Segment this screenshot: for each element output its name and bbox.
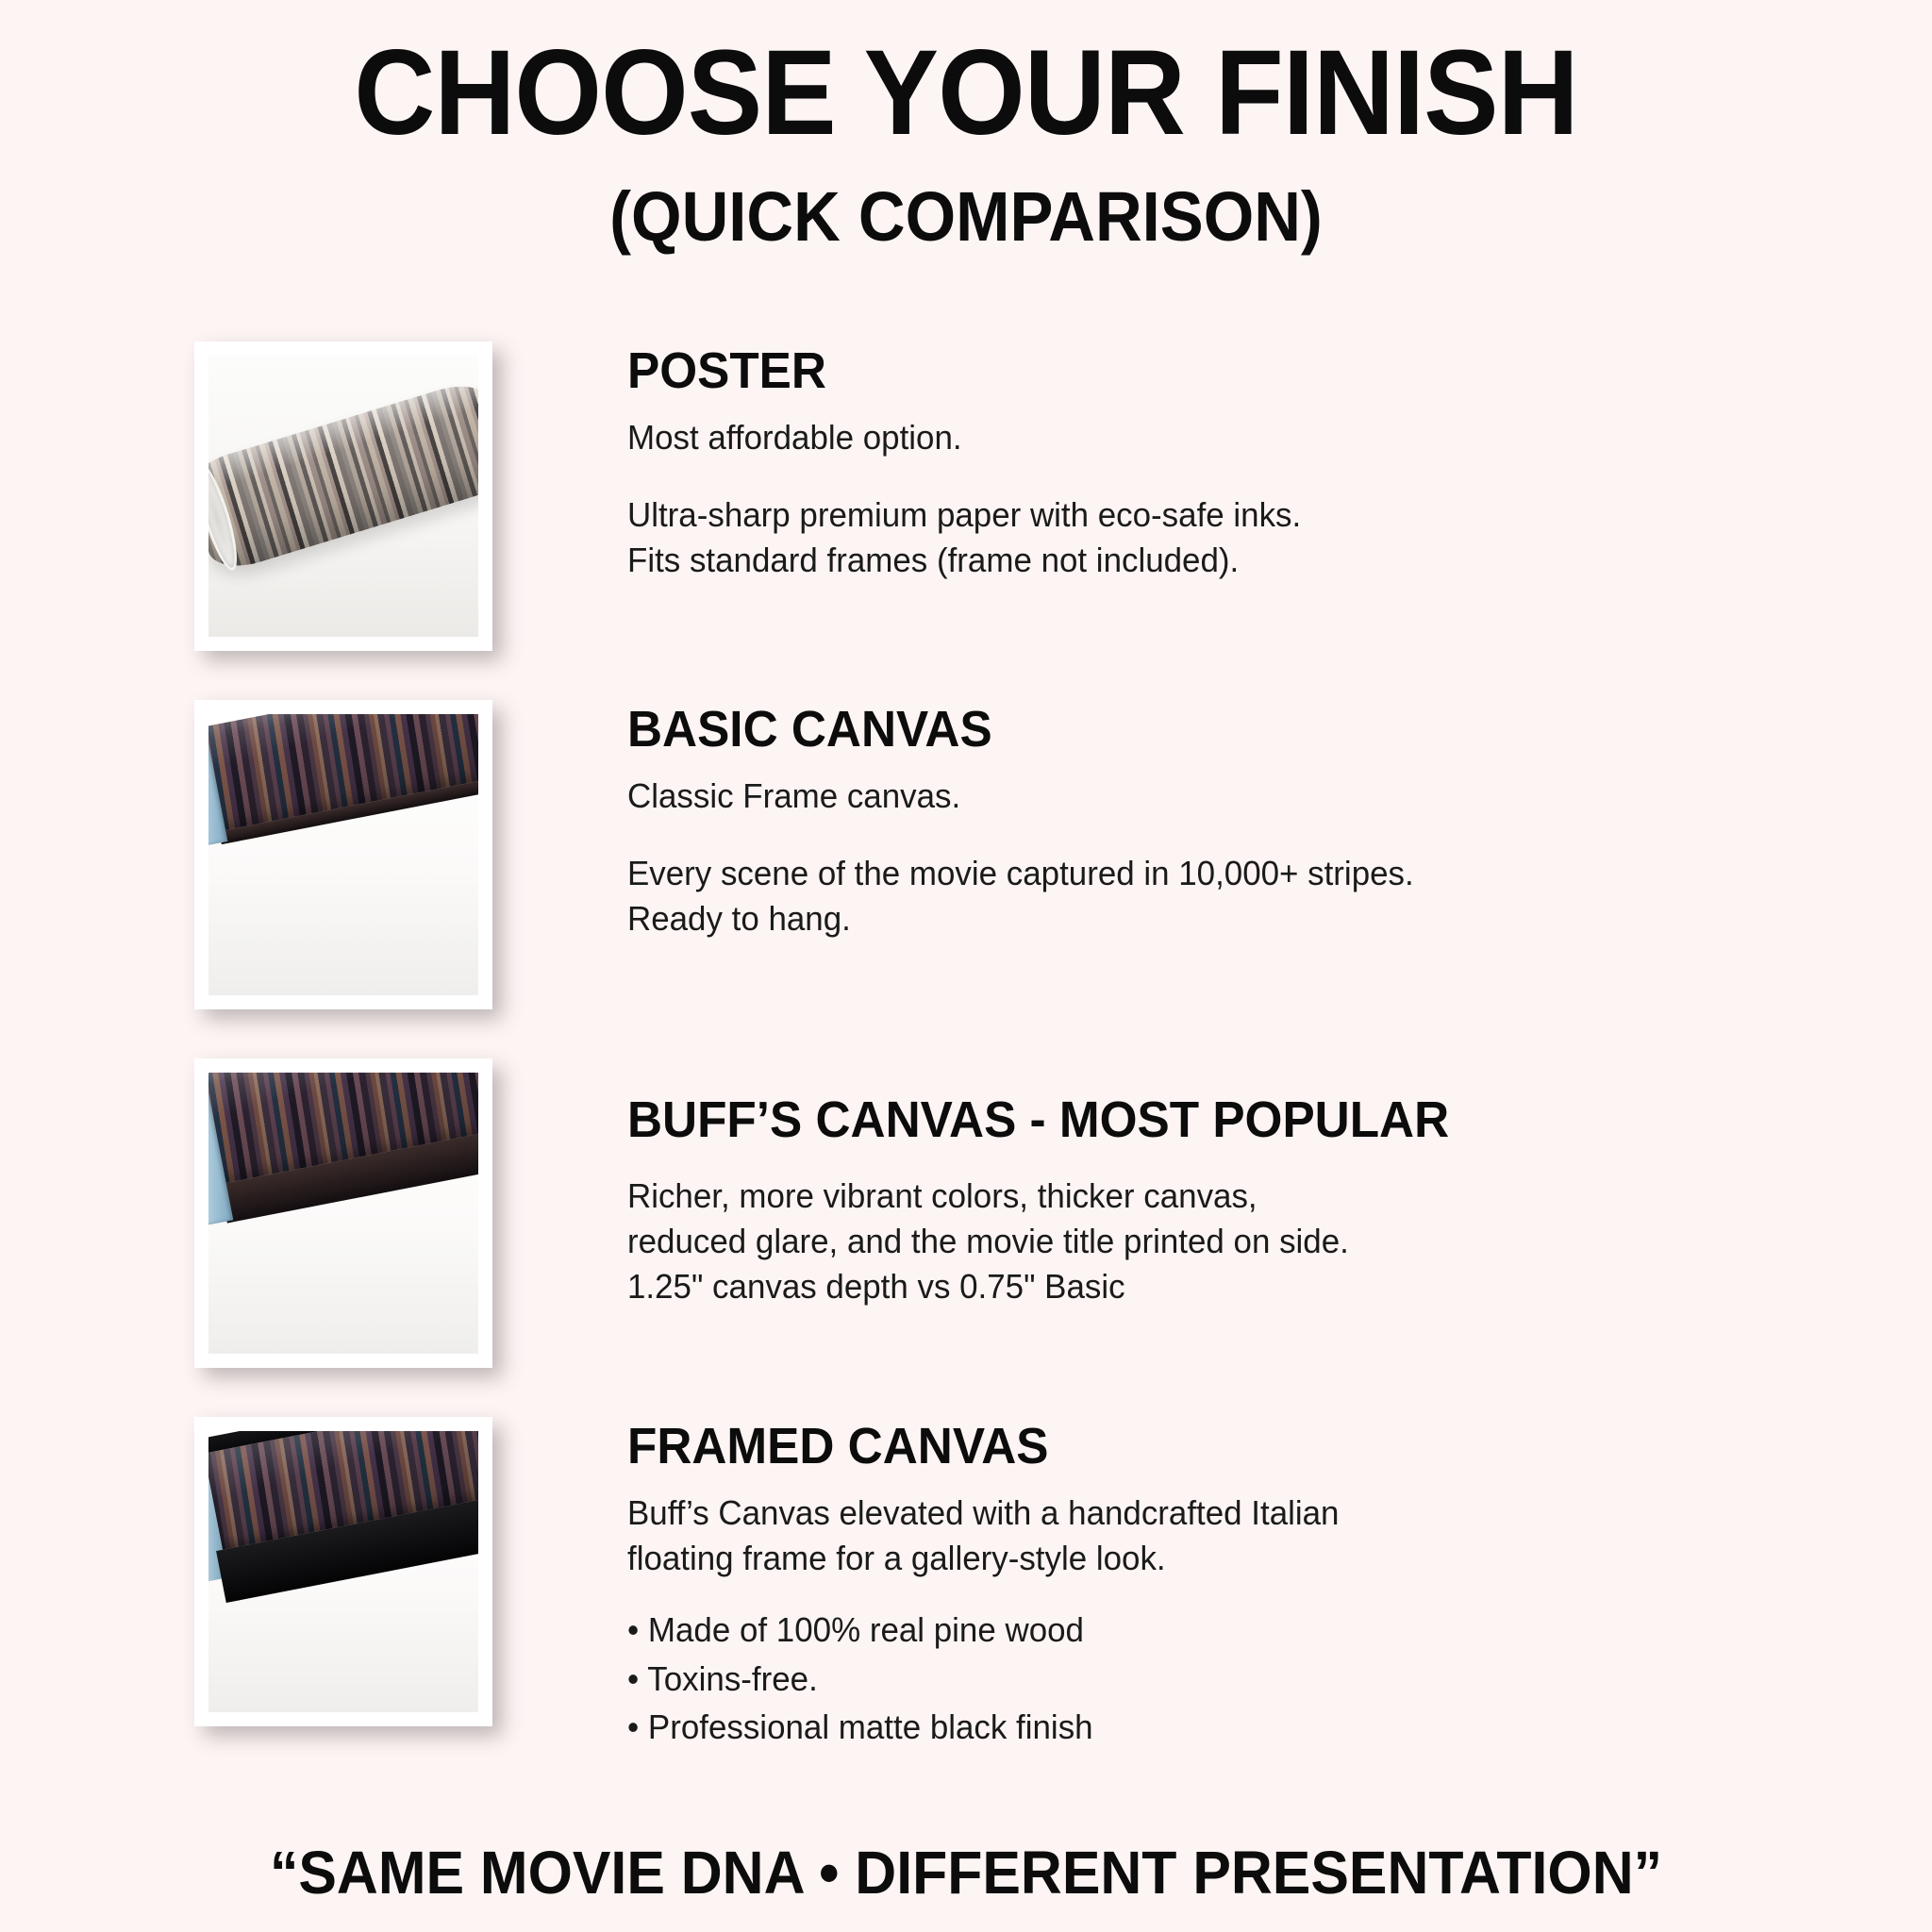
footer-tagline: “SAME MOVIE DNA • DIFFERENT PRESENTATION…: [48, 1838, 1884, 1907]
basic-canvas-photo-card: [194, 700, 492, 1009]
finish-option-row: BUFF’S CANVAS - MOST POPULAR Richer, mor…: [0, 1058, 1932, 1417]
canvas-slab-thick: [208, 1073, 478, 1189]
poster-text-block: POSTER Most affordable option. Ultra-sha…: [627, 341, 1854, 584]
floating-frame-assembly: [208, 1431, 478, 1555]
framed-canvas-corner-photo: [208, 1431, 478, 1712]
section-heading-buffs-canvas: BUFF’S CANVAS - MOST POPULAR: [627, 1091, 1792, 1149]
basic-canvas-body-text: Every scene of the movie captured in 10,…: [627, 851, 1817, 941]
finish-option-row: POSTER Most affordable option. Ultra-sha…: [0, 341, 1932, 700]
comparison-infographic: CHOOSE YOUR FINISH (QUICK COMPARISON) PO…: [0, 0, 1932, 1932]
section-heading-basic-canvas: BASIC CANVAS: [627, 700, 1792, 758]
buffs-canvas-corner-photo: [208, 1073, 478, 1354]
framed-canvas-feature-list: • Made of 100% real pine wood • Toxins-f…: [627, 1606, 1854, 1750]
poster-body-text: Ultra-sharp premium paper with eco-safe …: [627, 492, 1817, 583]
poster-lead-text: Most affordable option.: [627, 415, 1817, 460]
basic-canvas-corner-photo: [208, 714, 478, 995]
footer: “SAME MOVIE DNA • DIFFERENT PRESENTATION…: [0, 1838, 1932, 1907]
finish-options-list: POSTER Most affordable option. Ultra-sha…: [0, 341, 1932, 1775]
framed-canvas-text-block: FRAMED CANVAS Buff’s Canvas elevated wit…: [627, 1417, 1854, 1751]
poster-roll-end: [208, 459, 244, 575]
poster-photo-card: [194, 341, 492, 651]
section-heading-framed-canvas: FRAMED CANVAS: [627, 1417, 1792, 1475]
header: CHOOSE YOUR FINISH (QUICK COMPARISON): [0, 0, 1932, 255]
buffs-canvas-text-block: BUFF’S CANVAS - MOST POPULAR Richer, mor…: [627, 1058, 1854, 1310]
list-item: • Made of 100% real pine wood: [627, 1606, 1817, 1654]
page-title: CHOOSE YOUR FINISH: [68, 32, 1865, 156]
list-item: • Toxins-free.: [627, 1655, 1817, 1703]
finish-option-row: BASIC CANVAS Classic Frame canvas. Every…: [0, 700, 1932, 1058]
finish-option-row: FRAMED CANVAS Buff’s Canvas elevated wit…: [0, 1417, 1932, 1775]
framed-canvas-body-text: Buff’s Canvas elevated with a handcrafte…: [627, 1491, 1817, 1581]
buffs-canvas-body-text: Richer, more vibrant colors, thicker can…: [627, 1174, 1817, 1310]
list-item: • Professional matte black finish: [627, 1703, 1817, 1751]
framed-canvas-photo-card: [194, 1417, 492, 1726]
basic-canvas-text-block: BASIC CANVAS Classic Frame canvas. Every…: [627, 700, 1854, 942]
buffs-canvas-photo-card: [194, 1058, 492, 1368]
basic-canvas-lead-text: Classic Frame canvas.: [627, 774, 1817, 819]
rolled-poster-photo: [208, 356, 478, 637]
section-heading-poster: POSTER: [627, 341, 1792, 400]
page-subtitle: (QUICK COMPARISON): [68, 178, 1865, 255]
